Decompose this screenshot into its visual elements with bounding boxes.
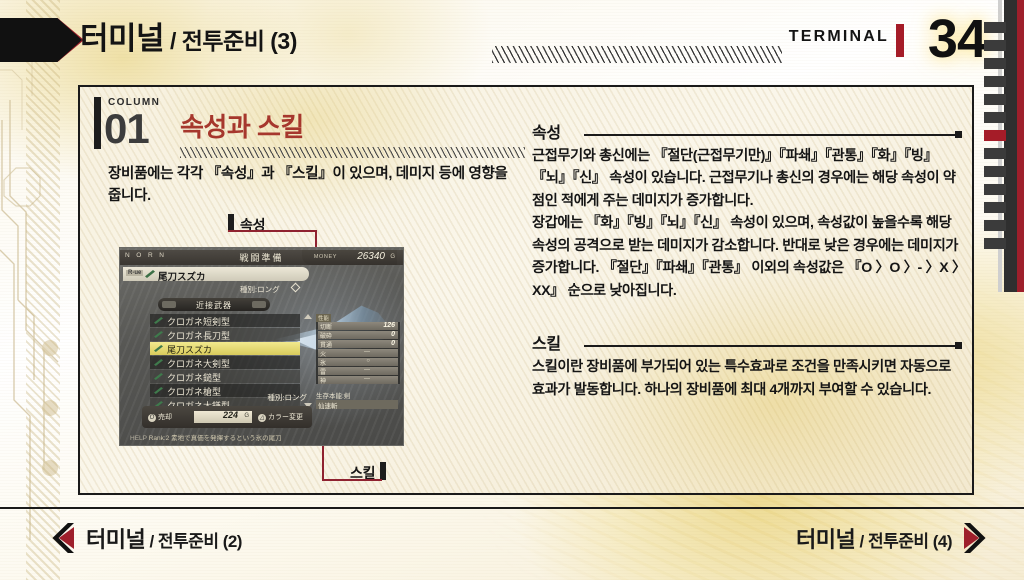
color-change-label: カラー変更 — [268, 414, 303, 421]
page-title-sep: / — [164, 28, 182, 54]
sword-icon — [145, 270, 155, 278]
game-survival-label: 生存本能:剣 — [316, 390, 350, 400]
section-rule — [584, 134, 958, 136]
footer-divider — [0, 507, 1024, 509]
list-item-label: クロガネ長刀型 — [167, 329, 230, 342]
header-hatch-rule — [492, 46, 782, 63]
sell-button-label: 売却 — [158, 414, 172, 421]
callout-line-attr-h — [228, 230, 317, 232]
stat-symbol: — — [364, 367, 370, 373]
game-screen-title: 戦闘準備 — [239, 251, 283, 264]
section-body-attribute: 근접무기와 총신에는 『절단(근접무기만)』『파쇄』『관통』『화』『빙』『뇌』『… — [532, 145, 962, 302]
panel-inner: COLUMN 01 속성과 스킬 장비품에는 각각 『속성』과 『스킬』이 있으… — [80, 87, 972, 493]
scroll-up-icon[interactable] — [304, 314, 312, 319]
spear-icon — [154, 387, 163, 394]
game-button-bar: O売却 224G △カラー変更 — [142, 406, 312, 428]
stat-row: 氷○ — [318, 358, 398, 366]
sword-icon — [154, 345, 163, 352]
page-title: 터미널 / 전투준비 (3) — [80, 17, 297, 63]
list-item-label: 尾刀スズカ — [167, 343, 212, 356]
game-skill-slot: 仙速斬 — [316, 400, 398, 409]
list-item-label: クロガネ短剣型 — [167, 315, 230, 328]
page-title-sub: 전투준비 (3) — [182, 28, 297, 54]
list-item[interactable]: クロガネ大剣型 — [150, 356, 300, 369]
game-equipped-name: 尾刀スズカ — [158, 269, 206, 283]
color-change-button[interactable]: △カラー変更 — [258, 412, 303, 422]
column-number: 01 — [104, 105, 149, 153]
left-hatch-band — [26, 0, 60, 580]
list-item-selected[interactable]: 尾刀スズカ — [150, 342, 300, 355]
game-kind-label: 種別:ロング — [240, 284, 280, 295]
game-equipped-tag: R-ue — [126, 270, 143, 276]
section-heading-attribute: 속성 — [532, 119, 962, 143]
prev-sep: / — [145, 532, 158, 551]
stat-symbol: — — [364, 376, 370, 382]
game-money-label: MONEY — [314, 254, 337, 260]
section-title: 스킬 — [532, 330, 561, 354]
section-rule-endcap — [955, 342, 962, 349]
stat-row: 貫通0 — [318, 340, 398, 348]
sell-button[interactable]: O売却 — [148, 412, 172, 422]
hammer-icon — [154, 373, 163, 380]
page-title-main: 터미널 — [80, 21, 164, 56]
sell-value-box: 224G — [194, 411, 252, 423]
stat-row: 火— — [318, 349, 398, 357]
stat-name: 雷 — [320, 367, 326, 376]
right-text-column: 속성 근접무기와 총신에는 『절단(근접무기만)』『파쇄』『관통』『화』『빙』『… — [532, 119, 962, 401]
next-main: 터미널 — [796, 527, 855, 552]
game-help-text: Rank:2 素地で真価を発揮するという氷の尾刀 — [149, 435, 282, 442]
right-rail-red — [1017, 0, 1024, 292]
stat-row: 切断126 — [318, 322, 398, 330]
button-circle-icon: O — [148, 414, 156, 422]
list-item[interactable]: クロガネ長刀型 — [150, 328, 300, 341]
stat-name: 神 — [320, 376, 326, 385]
game-skill-slot-label: 仙速斬 — [318, 400, 338, 410]
list-item-label: クロガネ槍型 — [167, 385, 221, 398]
right-rail-dark — [1004, 0, 1018, 292]
callout-line-skill-h — [322, 479, 382, 481]
game-help-line: HELP Rank:2 素地で真価を発揮するという氷の尾刀 — [130, 432, 282, 442]
game-category-tab[interactable]: 近接武器 — [158, 298, 270, 311]
next-sep: / — [855, 532, 868, 551]
game-help-tag: HELP — [130, 435, 147, 442]
sell-value: 224 — [223, 410, 238, 420]
stat-name: 破砕 — [320, 331, 332, 340]
chevron-left-icon — [52, 523, 74, 553]
stat-name: 貫通 — [320, 340, 332, 349]
game-stats-header: 性能 — [316, 314, 331, 322]
stat-value: 0 — [391, 331, 395, 338]
button-triangle-icon: △ — [258, 414, 266, 422]
sword-icon — [154, 359, 163, 366]
page-root: 터미널 / 전투준비 (3) TERMINAL 34 COLUMN 01 속성과… — [0, 0, 1024, 580]
next-page-label: 터미널 / 전투준비 (4) — [796, 522, 952, 554]
prev-main: 터미널 — [86, 527, 145, 552]
stat-name: 火 — [320, 349, 326, 358]
terminal-number: 34 — [928, 8, 986, 70]
list-item[interactable]: クロガネ短剣型 — [150, 314, 300, 327]
stat-row: 雷— — [318, 367, 398, 375]
stat-row: 神— — [318, 376, 398, 384]
stat-row: 破砕0 — [318, 331, 398, 339]
column-hatch-rule — [180, 147, 525, 158]
sell-unit: G — [244, 413, 249, 419]
content-panel: COLUMN 01 속성과 스킬 장비품에는 각각 『속성』과 『스킬』이 있으… — [78, 85, 974, 495]
prev-sub: 전투준비 (2) — [158, 532, 242, 551]
section-heading-skill: 스킬 — [532, 330, 962, 354]
game-equipped-row[interactable]: R-ue 尾刀スズカ — [123, 267, 309, 281]
sword-icon — [154, 317, 163, 324]
game-money-value: 26340 — [357, 251, 385, 262]
prev-page-label: 터미널 / 전투준비 (2) — [86, 522, 242, 554]
game-money-unit: G — [390, 254, 395, 260]
list-item-label: クロガネ鎚型 — [167, 371, 221, 384]
section-body-skill: 스킬이란 장비품에 부가되어 있는 특수효과로 조건을 만족시키면 자동으로 효… — [532, 356, 962, 401]
stat-symbol: ○ — [366, 358, 370, 364]
game-brand: N O R N — [125, 252, 166, 259]
stat-name: 切断 — [320, 322, 332, 331]
game-screenshot: N O R N 戦闘準備 MONEY 26340 G R-ue 尾刀スズカ 種別… — [119, 247, 404, 446]
category-next-icon[interactable] — [252, 301, 266, 308]
sword-icon — [154, 331, 163, 338]
chevron-right-icon — [964, 523, 986, 553]
stat-symbol: — — [364, 349, 370, 355]
column-lead-text: 장비품에는 각각 『속성』과 『스킬』이 있으며, 데미지 등에 영향을 줍니다… — [108, 163, 508, 208]
right-rail-ticks — [984, 22, 1006, 274]
next-page-link[interactable]: 터미널 / 전투준비 (4) — [796, 522, 986, 554]
callout-label-attribute: 속성 — [240, 215, 265, 235]
column-accent-bar — [94, 97, 101, 149]
column-title: 속성과 스킬 — [180, 107, 304, 144]
stat-value: 0 — [391, 340, 395, 347]
terminal-divider — [896, 24, 904, 57]
left-circuit-decoration — [0, 0, 62, 580]
prev-page-link[interactable]: 터미널 / 전투준비 (2) — [52, 522, 242, 554]
list-item-label: クロガネ大剣型 — [167, 357, 230, 370]
stat-name: 氷 — [320, 358, 326, 367]
section-title: 속성 — [532, 119, 561, 143]
section-rule — [584, 345, 958, 347]
next-sub: 전투준비 (4) — [868, 532, 952, 551]
list-item[interactable]: クロガネ鎚型 — [150, 370, 300, 383]
stat-value: 126 — [383, 322, 395, 329]
callout-bar-skill — [380, 462, 386, 480]
game-kind-label-bottom: 種別:ロング — [267, 392, 307, 403]
game-stats-current: 性能 切断126 破砕0 貫通0 火— 氷○ 雷— 神— — [316, 322, 400, 384]
terminal-label: TERMINAL — [789, 28, 889, 46]
section-rule-endcap — [955, 131, 962, 138]
